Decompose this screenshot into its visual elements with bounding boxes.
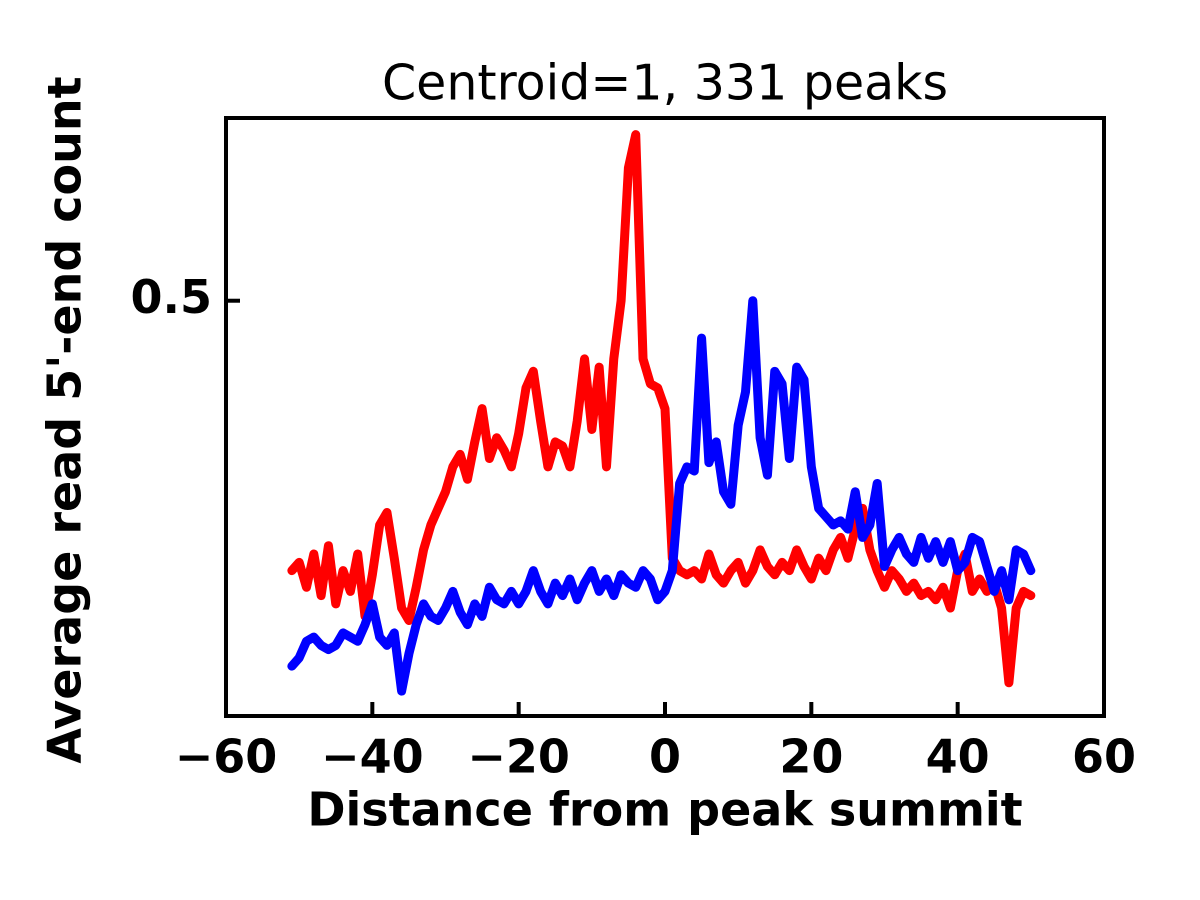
x-tick-label: 40 xyxy=(926,730,990,784)
x-tick-label: 60 xyxy=(1072,730,1136,784)
x-tick-label: −20 xyxy=(467,730,570,784)
y-axis-tick-labels: 0.5 xyxy=(131,270,213,324)
chart-figure: −60−40−200204060 0.5 Centroid=1, 331 pea… xyxy=(0,0,1200,900)
x-tick-label: 0 xyxy=(649,730,681,784)
chart-title: Centroid=1, 331 peaks xyxy=(382,55,948,112)
x-axis-label: Distance from peak summit xyxy=(307,783,1022,837)
y-tick-label: 0.5 xyxy=(131,270,213,324)
y-axis-label: Average read 5'-end count xyxy=(38,76,92,763)
x-tick-label: −40 xyxy=(321,730,424,784)
x-tick-label: 20 xyxy=(779,730,843,784)
x-tick-label: −60 xyxy=(175,730,278,784)
chart-canvas: −60−40−200204060 0.5 Centroid=1, 331 pea… xyxy=(0,0,1200,900)
